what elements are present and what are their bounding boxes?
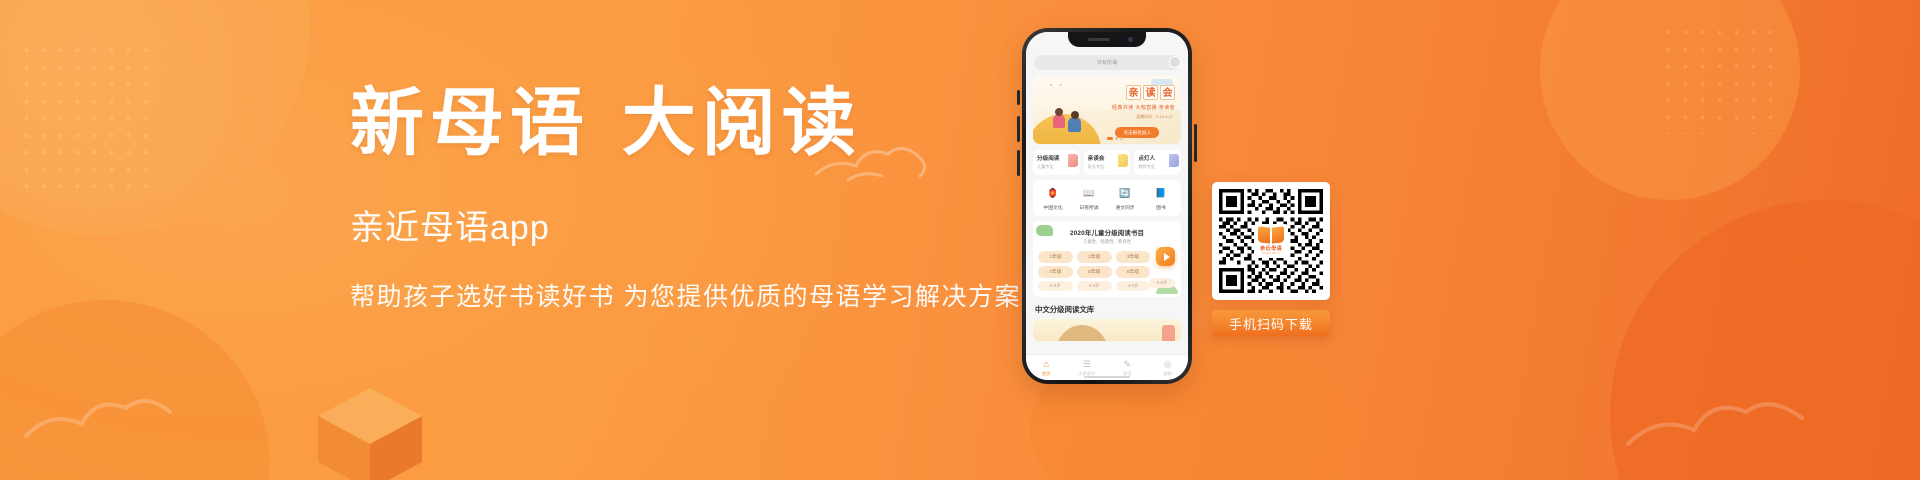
hero-banner[interactable]: ⌃ ⌃ 亲 读 会 经典共读 大咖直播 亲读者 直播时间：9.16-9.27 点… xyxy=(1033,76,1181,144)
home-icon: ⌂ xyxy=(1026,359,1067,370)
hero-child-2 xyxy=(1068,117,1081,132)
grade-chip[interactable]: 2年级 xyxy=(1077,251,1112,263)
hero-title-char-1: 亲 xyxy=(1126,85,1141,100)
quick-link-label: 图书 xyxy=(1143,204,1179,211)
tab-profile[interactable]: ◎ 我的 xyxy=(1148,359,1189,377)
library-tag xyxy=(1162,325,1175,341)
book-icon xyxy=(1169,154,1179,167)
leaf-icon-1 xyxy=(1036,225,1053,236)
brand-name: 亲近母语 xyxy=(1260,245,1282,252)
brand-logo: 亲近母语 QINJIN MUYU xyxy=(1254,224,1288,258)
phone-notch xyxy=(1068,32,1146,47)
speaker-icon xyxy=(1088,38,1110,41)
phone-screen-frame: 日有所诵 ⌃ ⌃ 亲 读 会 经典共读 大咖直播 亲读者 xyxy=(1026,32,1188,380)
booklist-section: 2020年儿童分级阅读书目 儿童性、经典性、教育性 1年级 2年级 3年级 4年… xyxy=(1033,221,1181,297)
qr-block: 亲近母语 QINJIN MUYU 手机扫码下载 xyxy=(1212,182,1330,336)
card-graded-reading[interactable]: 分级阅读 儿童专区 xyxy=(1033,150,1080,175)
booklist-title: 2020年儿童分级阅读书目 xyxy=(1038,228,1176,237)
phone-mute-button xyxy=(1017,90,1020,105)
open-book-icon xyxy=(1258,227,1284,244)
grade-chip[interactable]: 6年级 xyxy=(1116,266,1151,278)
page-title: 新母语 大阅读 xyxy=(350,86,1030,160)
tab-label: 首页 xyxy=(1026,371,1067,377)
book-icon xyxy=(1068,154,1078,167)
carousel-dot-2[interactable] xyxy=(1115,137,1118,140)
decor-blob-top-left xyxy=(0,0,310,235)
app-name-subtitle: 亲近母语app xyxy=(350,200,1030,249)
decor-cube-icon xyxy=(310,382,430,480)
age-chip[interactable]: 3-4岁 xyxy=(1077,281,1112,292)
phone-power-button xyxy=(1194,124,1197,162)
hero-title-char-3: 会 xyxy=(1160,85,1175,100)
card-teacher-zone[interactable]: 点灯人 教师专区 xyxy=(1134,150,1181,175)
carousel-dot-1[interactable] xyxy=(1107,137,1113,140)
tab-label: 我的 xyxy=(1148,371,1189,377)
download-button[interactable]: 手机扫码下载 xyxy=(1212,310,1330,336)
grade-chip[interactable]: 5年级 xyxy=(1077,266,1112,278)
grade-chip[interactable]: 1年级 xyxy=(1038,251,1073,263)
profile-icon: ◎ xyxy=(1148,359,1189,370)
hero-title: 亲 读 会 xyxy=(1126,85,1175,100)
quick-link-label: 中国文化 xyxy=(1035,204,1071,211)
tab-study[interactable]: ✎ 学习 xyxy=(1107,359,1148,377)
hero-schedule: 直播时间：9.16-9.27 xyxy=(1136,114,1173,120)
hero-title-char-2: 读 xyxy=(1143,85,1158,100)
booklist-subtitle: 儿童性、经典性、教育性 xyxy=(1038,239,1176,245)
decor-dot-grid-right xyxy=(1660,24,1780,134)
library-arc xyxy=(1055,325,1109,341)
grade-chip[interactable]: 3年级 xyxy=(1116,251,1151,263)
library-card[interactable] xyxy=(1033,319,1181,341)
camera-icon xyxy=(1128,37,1133,42)
card-parent-club[interactable]: 亲读会 家长专区 xyxy=(1084,150,1131,175)
decor-blob-bottom-right xyxy=(1610,200,1920,480)
quick-links: 🏮 中国文化 📖 日有所诵 🔄 语文同步 📘 图书 xyxy=(1033,180,1181,216)
book-right-page xyxy=(1272,226,1284,243)
tagline: 帮助孩子选好书读好书 为您提供优质的母语学习解决方案 xyxy=(350,277,1030,313)
quick-link-chinese-culture[interactable]: 🏮 中国文化 xyxy=(1035,186,1071,211)
qr-code-card[interactable]: 亲近母语 QINJIN MUYU xyxy=(1212,182,1330,300)
book-icon: 📖 xyxy=(1082,186,1097,201)
reading-icon: ☰ xyxy=(1067,359,1108,370)
quick-link-label: 语文同步 xyxy=(1107,204,1143,211)
decor-blob-bottom-left xyxy=(0,300,270,480)
home-indicator xyxy=(1084,376,1130,378)
quick-link-daily-recite[interactable]: 📖 日有所诵 xyxy=(1071,186,1107,211)
tab-home[interactable]: ⌂ 首页 xyxy=(1026,359,1067,377)
book-left-page xyxy=(1258,226,1270,243)
phone-volume-down xyxy=(1017,150,1020,176)
sync-icon: 🔄 xyxy=(1118,186,1133,201)
phone-volume-up xyxy=(1017,116,1020,142)
study-icon: ✎ xyxy=(1107,359,1148,370)
grade-chip[interactable]: 4年级 xyxy=(1038,266,1073,278)
search-input[interactable]: 日有所诵 xyxy=(1034,55,1180,70)
brand-name-en: QINJIN MUYU xyxy=(1261,252,1280,255)
carousel-dots[interactable] xyxy=(1107,137,1123,140)
carousel-dot-3[interactable] xyxy=(1120,137,1123,140)
quick-link-label: 日有所诵 xyxy=(1071,204,1107,211)
quick-link-sync-chinese[interactable]: 🔄 语文同步 xyxy=(1107,186,1143,211)
book-icon xyxy=(1118,154,1128,167)
hero-birds-icon: ⌃ ⌃ xyxy=(1049,84,1065,90)
play-video-button[interactable] xyxy=(1156,247,1175,266)
search-placeholder: 日有所诵 xyxy=(1097,59,1117,66)
banner-text-block: 新母语 大阅读 亲近母语app 帮助孩子选好书读好书 为您提供优质的母语学习解决… xyxy=(350,86,1030,313)
decor-cloud-icon-3 xyxy=(1620,380,1810,460)
avatar[interactable] xyxy=(1169,56,1181,68)
age-chip[interactable]: 0-3岁 xyxy=(1038,281,1073,292)
decor-blob-right xyxy=(1540,0,1800,200)
phone-mockup: 日有所诵 ⌃ ⌃ 亲 读 会 经典共读 大咖直播 亲读者 xyxy=(1022,28,1192,384)
library-icon: 📘 xyxy=(1154,186,1169,201)
age-chip[interactable]: 4-5岁 xyxy=(1116,281,1151,292)
category-cards: 分级阅读 儿童专区 亲读会 家长专区 点灯人 教师专区 xyxy=(1033,150,1181,175)
hero-subtitle: 经典共读 大咖直播 亲读者 xyxy=(1112,104,1175,111)
library-section-title: 中文分级阅读文库 xyxy=(1035,304,1188,315)
hero-hill xyxy=(1033,114,1101,144)
decor-dot-grid-left xyxy=(18,42,158,192)
promo-banner: 新母语 大阅读 亲近母语app 帮助孩子选好书读好书 为您提供优质的母语学习解决… xyxy=(0,0,1920,480)
quick-link-books[interactable]: 📘 图书 xyxy=(1143,186,1179,211)
lantern-icon: 🏮 xyxy=(1046,186,1061,201)
age-chip[interactable]: 5-6岁 xyxy=(1149,278,1175,289)
app-screen: 日有所诵 ⌃ ⌃ 亲 读 会 经典共读 大咖直播 亲读者 xyxy=(1026,32,1188,380)
tab-reading[interactable]: ☰ 小步读书 xyxy=(1067,359,1108,377)
decor-cloud-icon-2 xyxy=(20,380,180,450)
hero-child-1 xyxy=(1053,114,1065,128)
